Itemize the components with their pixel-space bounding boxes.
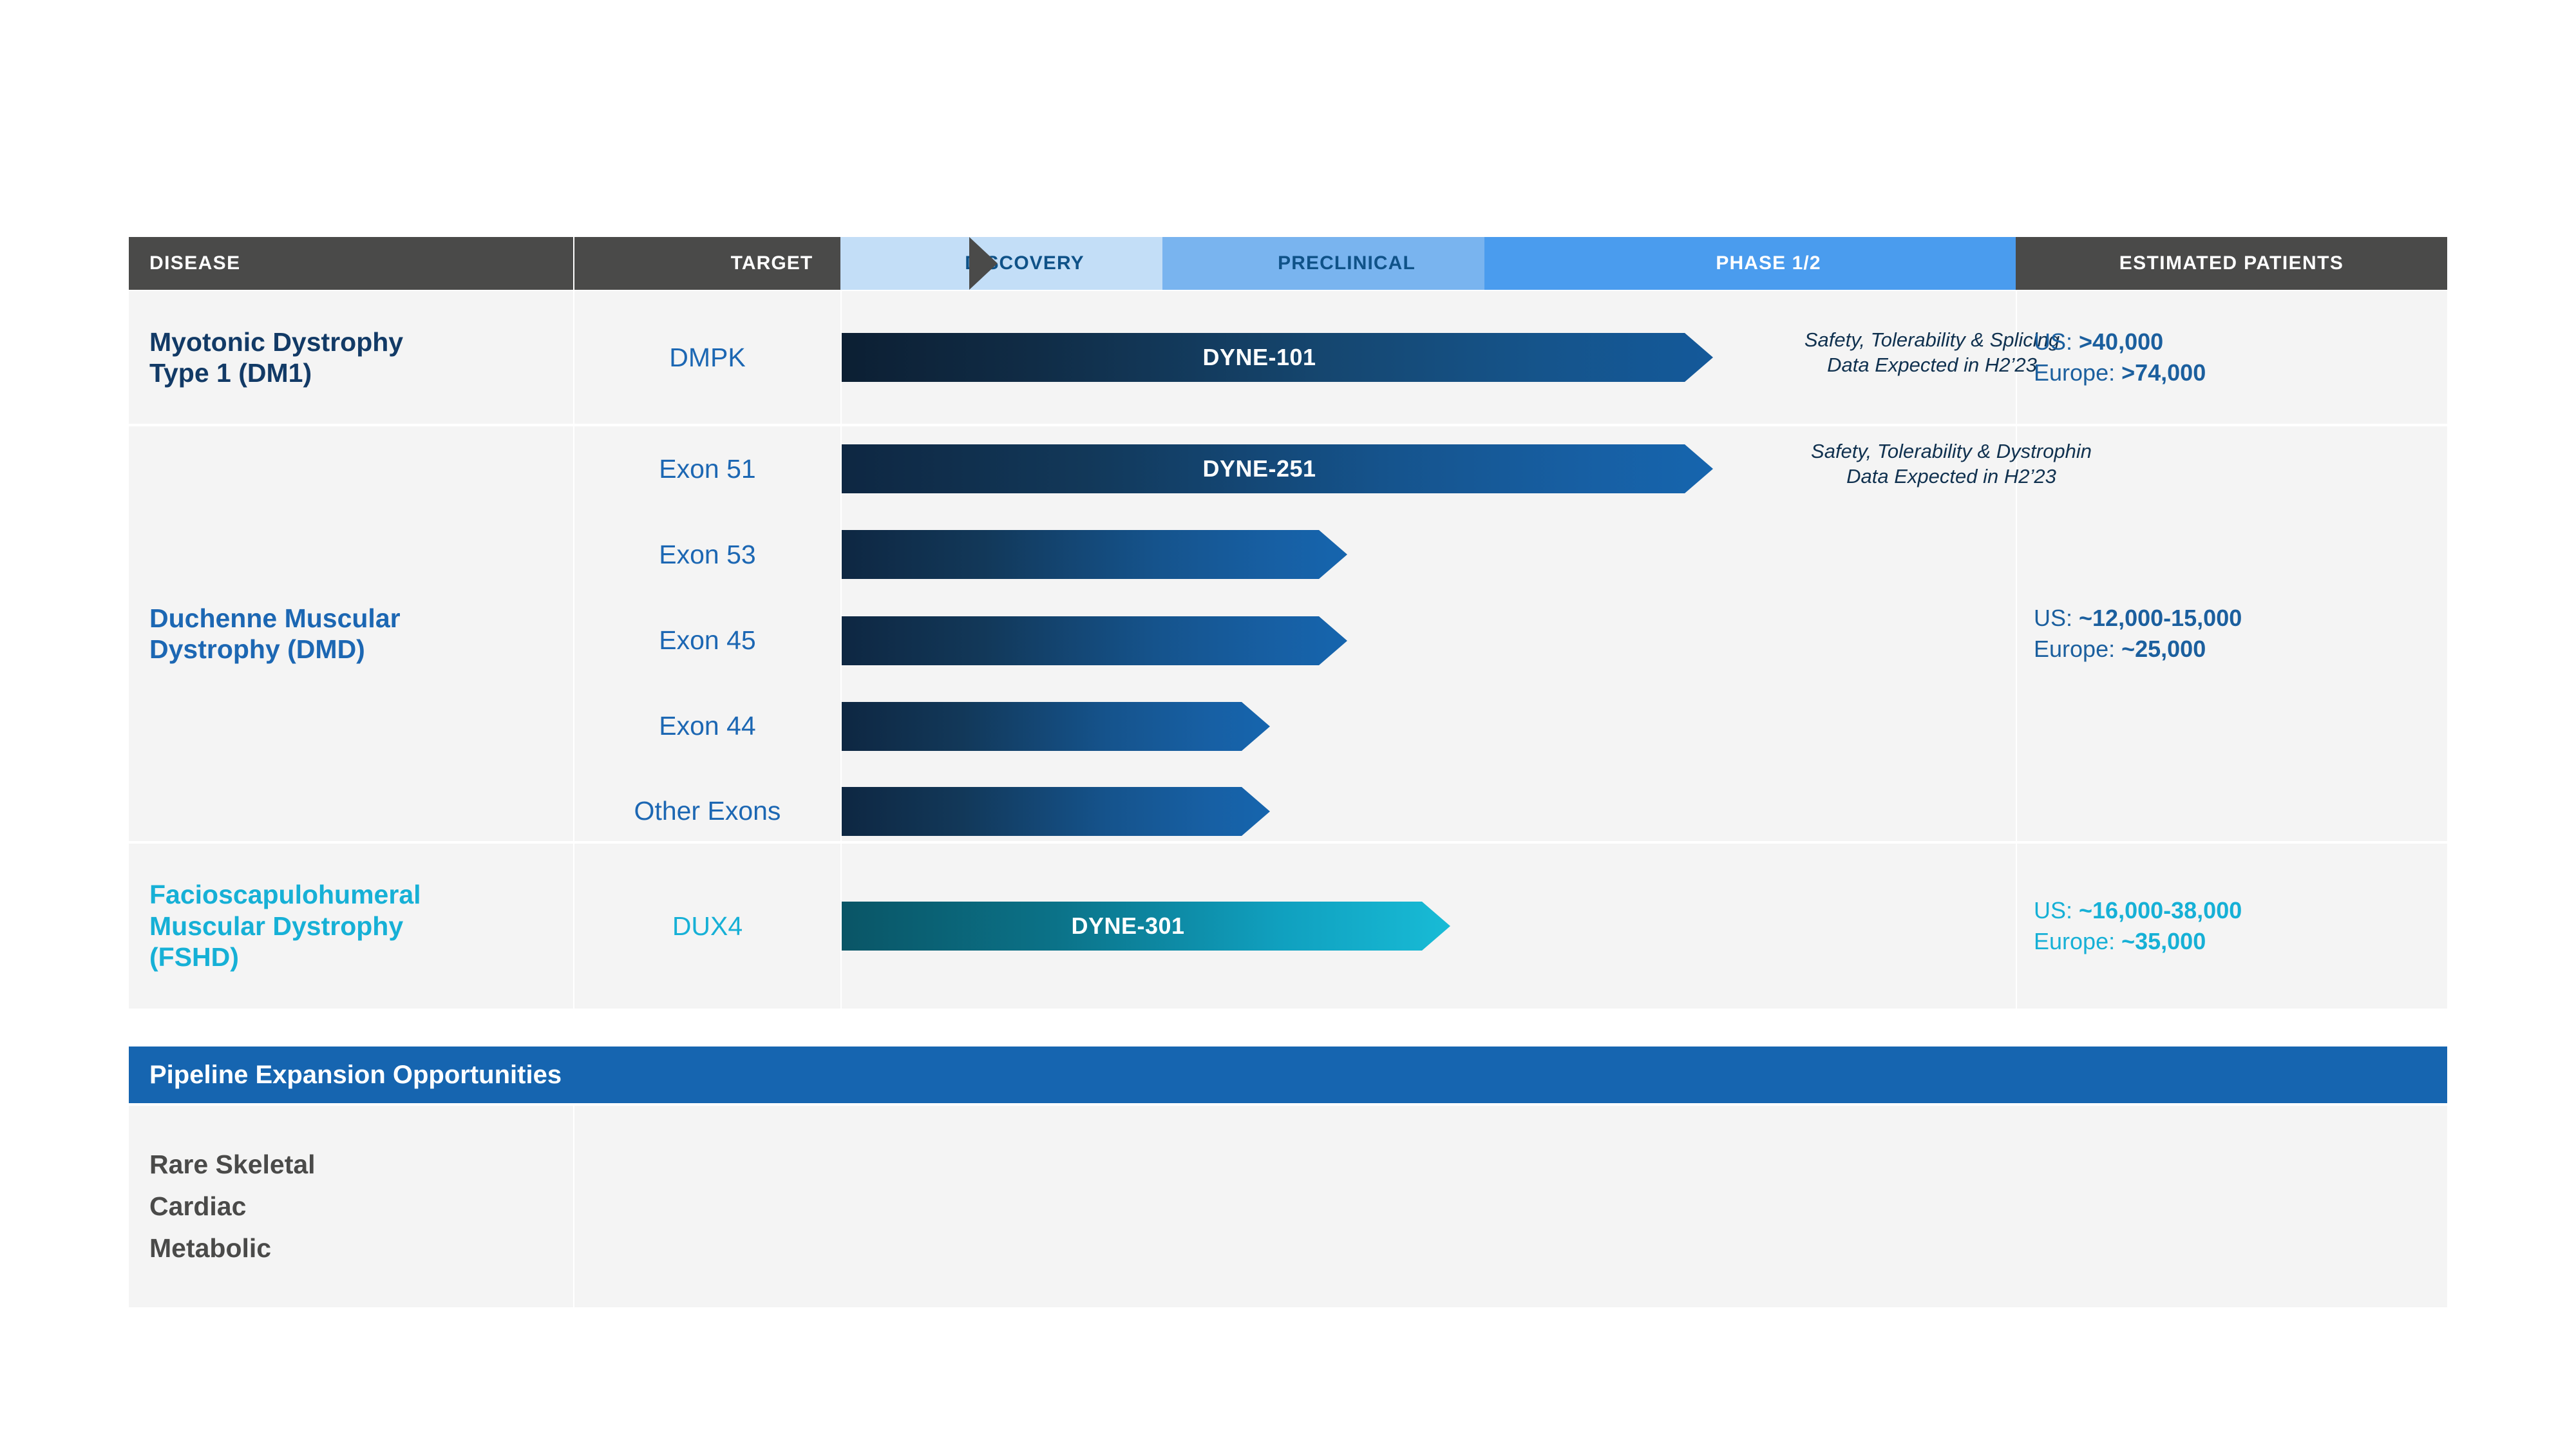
- patients-dmd-us-value: ~12,000-15,000: [2079, 605, 2242, 631]
- disease-label-fshd-line2: Muscular Dystrophy: [149, 911, 573, 942]
- target-label-dux4: DUX4: [574, 844, 840, 1009]
- expansion-divider: [573, 1106, 574, 1307]
- expansion-item-cardiac: Cardiac: [149, 1193, 316, 1220]
- disease-label-fshd-line1: Facioscapulohumeral: [149, 879, 573, 910]
- patients-dm1-us: US: >40,000: [2034, 327, 2447, 357]
- program-bar-dyne-101-label: DYNE-101: [1202, 344, 1316, 371]
- header-disease: DISEASE: [129, 237, 573, 290]
- expansion-body: Rare Skeletal Cardiac Metabolic: [129, 1106, 2447, 1307]
- header-phase-phase12-label: PHASE 1/2: [1716, 252, 1821, 274]
- disease-label-dm1: Myotonic Dystrophy Type 1 (DM1): [129, 291, 573, 424]
- program-bar-exon-53: [842, 530, 1347, 579]
- program-bar-dyne-251: DYNE-251: [842, 444, 1713, 493]
- program-bar-dyne-251-label: DYNE-251: [1202, 455, 1316, 482]
- header-phase-discovery: DISCOVERY: [840, 237, 1201, 290]
- patients-dm1-eu: Europe: >74,000: [2034, 357, 2447, 388]
- target-label-exon-45: Exon 45: [574, 598, 840, 683]
- expansion-item-metabolic: Metabolic: [149, 1235, 316, 1262]
- disease-label-fshd: Facioscapulohumeral Muscular Dystrophy (…: [129, 844, 573, 1009]
- program-bar-exon-44: [842, 702, 1270, 751]
- row-divider-target: [840, 291, 842, 424]
- table-row-dmd: Duchenne Muscular Dystrophy (DMD) Exon 5…: [129, 426, 2447, 841]
- patients-dmd-eu: Europe: ~25,000: [2034, 634, 2447, 665]
- pipeline-chart: DISEASE TARGET DISCOVERY PRECLINICAL PHA…: [0, 0, 2576, 1449]
- patients-fshd-eu-label: Europe:: [2034, 928, 2121, 954]
- patients-dmd-eu-value: ~25,000: [2121, 636, 2206, 662]
- disease-label-dmd-line2: Dystrophy (DMD): [149, 634, 573, 665]
- patients-fshd-eu: Europe: ~35,000: [2034, 926, 2447, 957]
- patients-fshd: US: ~16,000-38,000 Europe: ~35,000: [2017, 844, 2447, 1009]
- target-label-exon-53: Exon 53: [574, 511, 840, 598]
- patients-dmd: US: ~12,000-15,000 Europe: ~25,000: [2017, 426, 2447, 841]
- expansion-item-rare-skeletal: Rare Skeletal: [149, 1151, 316, 1178]
- program-bar-dyne-301-label: DYNE-301: [1071, 913, 1184, 940]
- target-label-dmpk: DMPK: [574, 291, 840, 424]
- patients-fshd-us-label: US:: [2034, 897, 2079, 923]
- patients-fshd-us: US: ~16,000-38,000: [2034, 895, 2447, 926]
- target-label-other-exons: Other Exons: [574, 768, 840, 854]
- patients-dm1-eu-label: Europe:: [2034, 359, 2121, 386]
- expansion-banner: Pipeline Expansion Opportunities: [129, 1046, 2447, 1103]
- patients-dmd-eu-label: Europe:: [2034, 636, 2121, 662]
- program-bar-dyne-101: DYNE-101: [842, 333, 1713, 382]
- row-divider-target: [840, 426, 842, 841]
- disease-label-dmd: Duchenne Muscular Dystrophy (DMD): [129, 426, 573, 841]
- disease-label-dm1-line1: Myotonic Dystrophy: [149, 327, 573, 357]
- patients-fshd-eu-value: ~35,000: [2121, 928, 2206, 954]
- header-estimated-patients: ESTIMATED PATIENTS: [2016, 237, 2447, 290]
- target-label-exon-51: Exon 51: [574, 426, 840, 511]
- expansion-list: Rare Skeletal Cardiac Metabolic: [149, 1106, 316, 1307]
- table-row-fshd: Facioscapulohumeral Muscular Dystrophy (…: [129, 844, 2447, 1009]
- patients-dmd-us-label: US:: [2034, 605, 2079, 631]
- table-header: DISEASE TARGET DISCOVERY PRECLINICAL PHA…: [129, 237, 2447, 290]
- program-bar-other-exons: [842, 787, 1270, 836]
- target-label-exon-44: Exon 44: [574, 683, 840, 768]
- patients-dm1-us-value: >40,000: [2079, 328, 2163, 355]
- table-row-dm1: Myotonic Dystrophy Type 1 (DM1) DMPK DYN…: [129, 291, 2447, 424]
- patients-dmd-us: US: ~12,000-15,000: [2034, 603, 2447, 634]
- disease-label-fshd-line3: (FSHD): [149, 942, 573, 972]
- header-phase-preclinical-label: PRECLINICAL: [1278, 252, 1416, 274]
- disease-label-dmd-line1: Duchenne Muscular: [149, 603, 573, 634]
- header-phase-preclinical: PRECLINICAL: [1162, 237, 1523, 290]
- patients-dm1: US: >40,000 Europe: >74,000: [2017, 291, 2447, 424]
- row-divider-target: [840, 844, 842, 1009]
- patients-dm1-us-label: US:: [2034, 328, 2079, 355]
- patients-dm1-eu-value: >74,000: [2121, 359, 2206, 386]
- program-bar-dyne-301: DYNE-301: [842, 902, 1450, 951]
- disease-label-dm1-line2: Type 1 (DM1): [149, 357, 573, 388]
- program-bar-exon-45: [842, 616, 1347, 665]
- header-phase-phase12: PHASE 1/2: [1484, 237, 2045, 290]
- patients-fshd-us-value: ~16,000-38,000: [2079, 897, 2242, 923]
- header-divider: [573, 237, 574, 290]
